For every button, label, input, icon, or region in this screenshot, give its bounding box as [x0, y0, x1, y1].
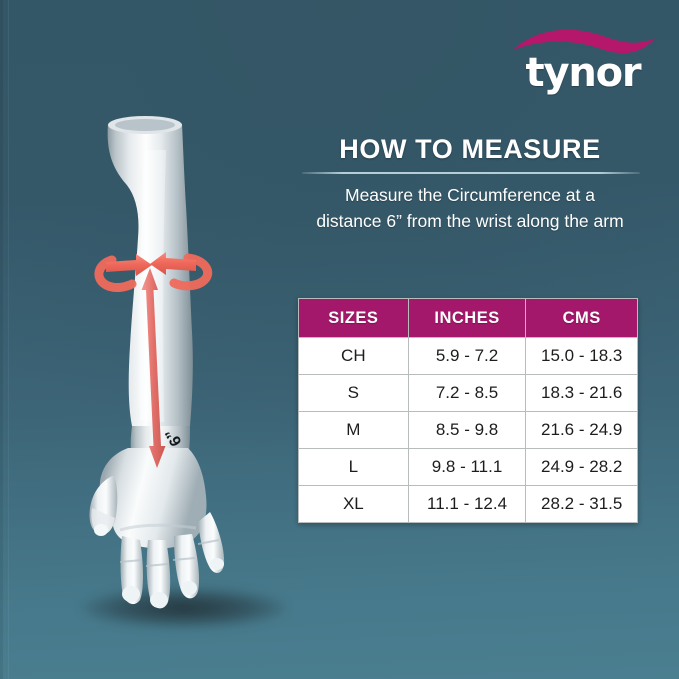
cell-inches: 7.2 - 8.5: [408, 375, 526, 412]
column-header-inches: INCHES: [408, 299, 526, 338]
cell-cms: 15.0 - 18.3: [526, 338, 638, 375]
table-row: M 8.5 - 9.8 21.6 - 24.9: [299, 412, 638, 449]
cell-inches: 5.9 - 7.2: [408, 338, 526, 375]
page-subtitle: Measure the Circumference at a distance …: [272, 182, 668, 234]
cell-cms: 21.6 - 24.9: [526, 412, 638, 449]
table-row: L 9.8 - 11.1 24.9 - 28.2: [299, 449, 638, 486]
cell-inches: 11.1 - 12.4: [408, 486, 526, 523]
cell-inches: 8.5 - 9.8: [408, 412, 526, 449]
column-header-cms: CMS: [526, 299, 638, 338]
cell-inches: 9.8 - 11.1: [408, 449, 526, 486]
table-row: XL 11.1 - 12.4 28.2 - 31.5: [299, 486, 638, 523]
cell-size: M: [299, 412, 409, 449]
finger-ring: [173, 534, 199, 598]
logo-wordmark: tynor: [505, 50, 661, 96]
cell-cms: 28.2 - 31.5: [526, 486, 638, 523]
table-row: CH 5.9 - 7.2 15.0 - 18.3: [299, 338, 638, 375]
finger-index: [120, 536, 143, 604]
cell-size: L: [299, 449, 409, 486]
arm-illustration: 6”: [40, 110, 270, 620]
column-header-sizes: SIZES: [299, 299, 409, 338]
title-divider: [302, 172, 640, 174]
finger-little: [198, 512, 224, 573]
cell-cms: 24.9 - 28.2: [526, 449, 638, 486]
finger-middle: [146, 540, 170, 608]
mannequin-arm-graphic: [40, 110, 270, 620]
size-chart-graphic: tynor HOW TO MEASURE Measure the Circumf…: [0, 0, 679, 679]
left-edge-line: [8, 0, 9, 679]
left-edge-shade: [0, 0, 3, 679]
table-row: S 7.2 - 8.5 18.3 - 21.6: [299, 375, 638, 412]
cell-size: CH: [299, 338, 409, 375]
page-title: HOW TO MEASURE: [280, 134, 660, 165]
cell-size: XL: [299, 486, 409, 523]
table-header-row: SIZES INCHES CMS: [299, 299, 638, 338]
tynor-logo: tynor: [505, 24, 661, 102]
cell-size: S: [299, 375, 409, 412]
cell-cms: 18.3 - 21.6: [526, 375, 638, 412]
size-chart-table: SIZES INCHES CMS CH 5.9 - 7.2 15.0 - 18.…: [298, 298, 638, 523]
